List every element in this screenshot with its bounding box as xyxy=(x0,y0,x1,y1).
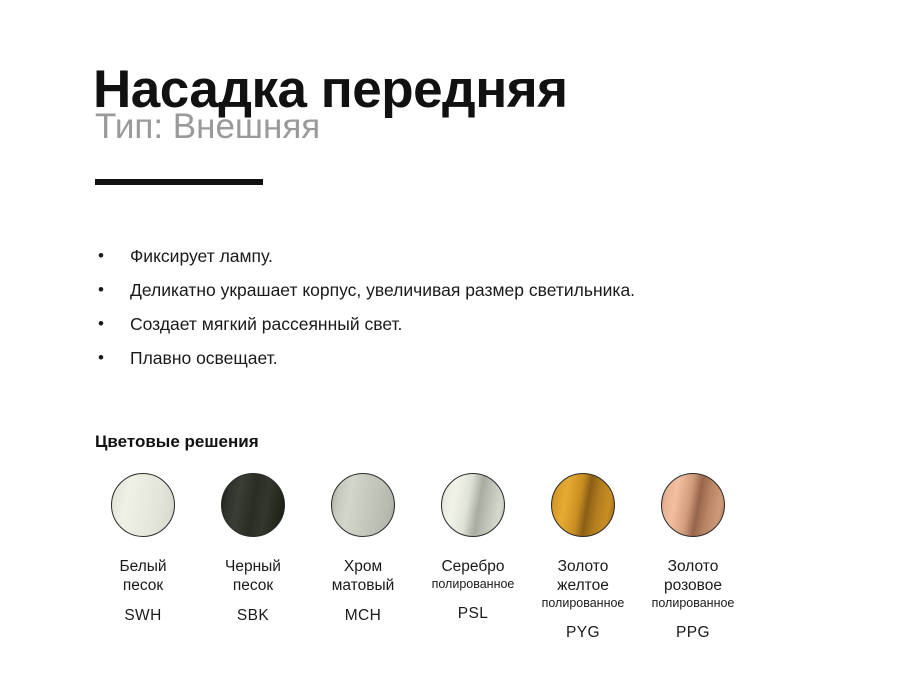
page-subtitle: Тип: Внешняя xyxy=(95,108,320,147)
swatch-name-line: песок xyxy=(225,576,281,595)
product-spec-page: Насадка передняя Тип: Внешняя • Фиксируе… xyxy=(0,0,900,700)
swatch-code-pyg: PYG xyxy=(566,623,600,642)
swatch-name-line: Черный xyxy=(225,557,281,576)
swatch-name-line: песок xyxy=(119,576,166,595)
feature-list: • Фиксирует лампу. • Деликатно украшает … xyxy=(95,243,855,379)
list-item: • Создает мягкий рассеянный свет. xyxy=(95,311,855,345)
swatch-circle-sbk[interactable] xyxy=(221,473,285,537)
swatch-circle-mch[interactable] xyxy=(331,473,395,537)
list-item: • Плавно освещает. xyxy=(95,345,855,379)
list-item: • Фиксирует лампу. xyxy=(95,243,855,277)
color-option-sbk[interactable]: Черный песок SBK xyxy=(198,473,308,642)
swatch-code-ppg: PPG xyxy=(676,623,710,642)
swatch-circle-pyg[interactable] xyxy=(551,473,615,537)
bullet-icon: • xyxy=(95,243,130,269)
color-option-ppg[interactable]: Золото розовое полированное PPG xyxy=(638,473,748,642)
swatch-label-ppg: Золото розовое полированное xyxy=(652,557,735,612)
swatch-circle-psl[interactable] xyxy=(441,473,505,537)
feature-text: Плавно освещает. xyxy=(130,345,278,371)
swatch-label-psl: Серебро полированное xyxy=(432,557,515,593)
feature-text: Фиксирует лампу. xyxy=(130,243,273,269)
swatch-code-mch: MCH xyxy=(345,606,382,625)
swatch-name-line: матовый xyxy=(332,576,395,595)
swatch-name-subline: полированное xyxy=(542,595,625,612)
swatch-name-line: Серебро xyxy=(432,557,515,576)
swatch-name-line: Хром xyxy=(332,557,395,576)
bullet-icon: • xyxy=(95,311,130,337)
swatch-code-swh: SWH xyxy=(124,606,161,625)
swatch-name-line: Золото xyxy=(652,557,735,576)
swatch-circle-ppg[interactable] xyxy=(661,473,725,537)
color-option-pyg[interactable]: Золото желтое полированное PYG xyxy=(528,473,638,642)
bullet-icon: • xyxy=(95,345,130,371)
swatch-name-line: желтое xyxy=(542,576,625,595)
swatch-name-subline: полированное xyxy=(652,595,735,612)
swatch-name-line: розовое xyxy=(652,576,735,595)
color-option-psl[interactable]: Серебро полированное PSL xyxy=(418,473,528,642)
color-option-mch[interactable]: Хром матовый MCH xyxy=(308,473,418,642)
color-swatch-grid: Белый песок SWH Черный песок SBK Хром ма… xyxy=(88,473,728,642)
swatch-label-pyg: Золото желтое полированное xyxy=(542,557,625,612)
swatch-code-psl: PSL xyxy=(458,604,489,623)
swatch-code-sbk: SBK xyxy=(237,606,269,625)
colors-section-heading: Цветовые решения xyxy=(95,432,259,452)
title-divider xyxy=(95,179,263,185)
swatch-label-swh: Белый песок xyxy=(119,557,166,595)
swatch-label-sbk: Черный песок xyxy=(225,557,281,595)
color-option-swh[interactable]: Белый песок SWH xyxy=(88,473,198,642)
swatch-name-subline: полированное xyxy=(432,576,515,593)
bullet-icon: • xyxy=(95,277,130,303)
swatch-circle-swh[interactable] xyxy=(111,473,175,537)
feature-text: Деликатно украшает корпус, увеличивая ра… xyxy=(130,277,635,303)
feature-text: Создает мягкий рассеянный свет. xyxy=(130,311,402,337)
list-item: • Деликатно украшает корпус, увеличивая … xyxy=(95,277,855,311)
swatch-name-line: Золото xyxy=(542,557,625,576)
swatch-name-line: Белый xyxy=(119,557,166,576)
swatch-label-mch: Хром матовый xyxy=(332,557,395,595)
